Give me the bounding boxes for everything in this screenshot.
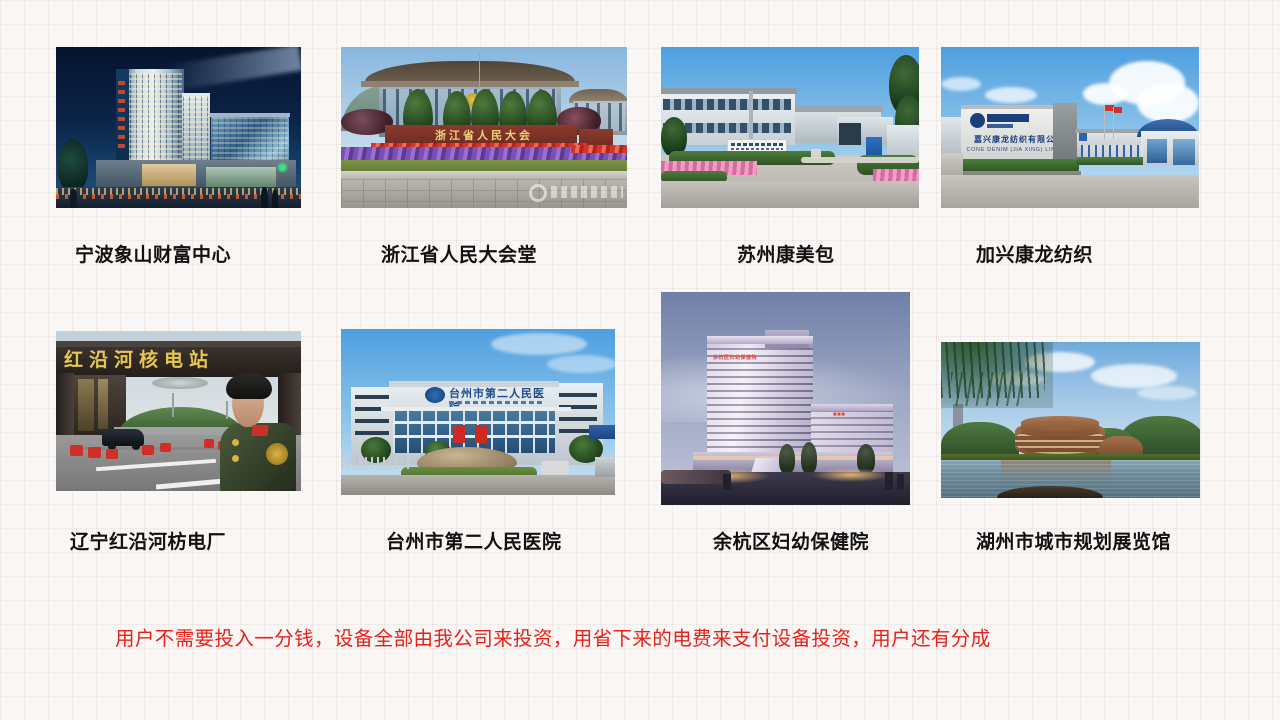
photo-great-hall: 浙江省人民大会堂 <box>341 47 627 208</box>
gallery-image-jiaxing-kanglong-textile[interactable]: 嘉兴康龙纺织有限公司 CONE DENIM (JIA XING) LIMITED <box>941 47 1199 208</box>
gallery-image-ningbo-xiangshan-wealth-center[interactable] <box>56 47 301 208</box>
gallery-caption-liaoning-hongyanhe-power-plant: 辽宁红沿河枋电厂 <box>70 527 226 554</box>
photo-cone-denim: 嘉兴康龙纺织有限公司 CONE DENIM (JIA XING) LIMITED <box>941 47 1199 208</box>
gallery-caption-suzhou-kangmeibao: 苏州康美包 <box>737 240 835 267</box>
photo-night-tower <box>56 47 301 208</box>
photo-hospital-day: 台州市第二人民医院 <box>341 329 615 495</box>
gallery-image-huzhou-urban-planning-hall[interactable] <box>941 342 1200 498</box>
footer-note: 用户不需要投入一分钱，设备全部由我公司来投资，用省下来的电费来支付设备投资，用户… <box>115 622 991 651</box>
dusk-hospital-sign-text: 余杭区妇幼保健院 <box>713 354 765 361</box>
gallery-image-yuhang-maternal-child-hospital[interactable]: 余杭区妇幼保健院 ■■■ <box>661 292 910 505</box>
gallery-caption-zhejiang-great-hall: 浙江省人民大会堂 <box>381 240 537 267</box>
gallery-image-taizhou-second-peoples-hospital[interactable]: 台州市第二人民医院 <box>341 329 615 495</box>
gallery-image-zhejiang-great-hall[interactable]: 浙江省人民大会堂 <box>341 47 627 208</box>
gallery-caption-ningbo-xiangshan-wealth-center: 宁波象山财富中心 <box>75 240 231 267</box>
gallery-caption-jiaxing-kanglong-textile: 加兴康龙纺织 <box>976 240 1093 267</box>
photo-factory <box>661 47 919 208</box>
gallery-caption-taizhou-second-peoples-hospital: 台州市第二人民医院 <box>386 527 562 554</box>
gallery-caption-yuhang-maternal-child-hospital: 余杭区妇幼保健院 <box>713 527 869 554</box>
photo-nuclear-gate: 红沿河核电站 <box>56 331 301 491</box>
photo-lake-museum <box>941 342 1200 498</box>
gate-sign-text: 红沿河核电站 <box>64 347 284 375</box>
photo-hospital-dusk: 余杭区妇幼保健院 ■■■ <box>661 292 910 505</box>
gallery-caption-huzhou-urban-planning-hall: 湖州市城市规划展览馆 <box>976 527 1171 554</box>
gallery-image-liaoning-hongyanhe-power-plant[interactable]: 红沿河核电站 <box>56 331 301 491</box>
slide-root: 宁波象山财富中心 <box>0 0 1280 720</box>
gallery-image-suzhou-kangmeibao[interactable] <box>661 47 919 208</box>
